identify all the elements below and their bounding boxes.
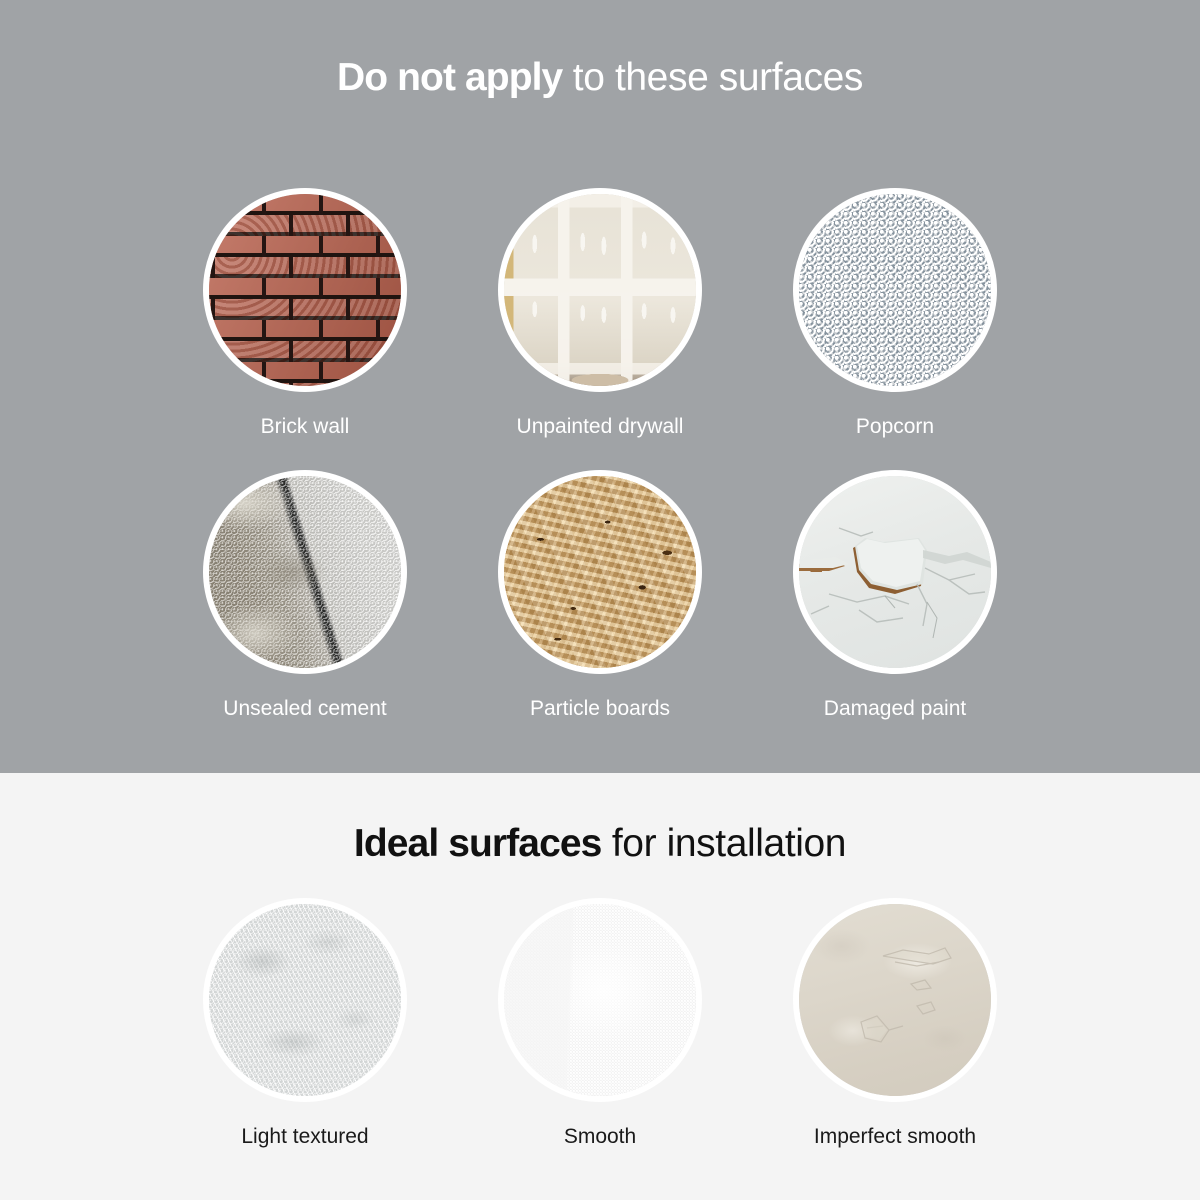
popcorn-ceiling-texture	[799, 194, 991, 386]
brick-wall-texture	[209, 194, 401, 386]
trowel-mark-detail-icon	[799, 904, 991, 1096]
damaged-paint-texture	[799, 476, 991, 668]
do-not-apply-row-2: Unsealed cement Particle boards	[0, 476, 1200, 722]
unsealed-cement-texture	[209, 476, 401, 668]
surface-tile-unpainted-drywall[interactable]: Unpainted drywall	[504, 194, 696, 440]
tile-label-imperfect-smooth: Imperfect smooth	[814, 1124, 976, 1150]
unpainted-drywall-texture	[504, 194, 696, 386]
heading-light-text: to these surfaces	[562, 56, 863, 99]
surface-tile-unsealed-cement[interactable]: Unsealed cement	[209, 476, 401, 722]
surface-tile-popcorn[interactable]: Popcorn	[799, 194, 991, 440]
surface-compatibility-infographic: Do not apply to these surfaces Brick wal…	[0, 0, 1200, 1200]
tile-label-unsealed-cement: Unsealed cement	[223, 696, 386, 722]
paint-peel-detail-icon	[799, 476, 991, 668]
swatch-damaged-paint	[799, 476, 991, 668]
particle-board-texture	[504, 476, 696, 668]
swatch-light-textured	[209, 904, 401, 1096]
tile-label-smooth: Smooth	[564, 1124, 636, 1150]
heading-strong-text: Do not apply	[337, 56, 562, 99]
tile-label-popcorn: Popcorn	[856, 414, 934, 440]
light-textured-surface-texture	[209, 904, 401, 1096]
surface-tile-imperfect-smooth[interactable]: Imperfect smooth	[799, 904, 991, 1150]
surface-tile-smooth[interactable]: Smooth	[504, 904, 696, 1150]
surface-tile-brick-wall[interactable]: Brick wall	[209, 194, 401, 440]
do-not-apply-row-1: Brick wall Unpainted drywall Popcorn	[0, 194, 1200, 440]
tile-label-unpainted-drywall: Unpainted drywall	[517, 414, 684, 440]
tile-label-brick-wall: Brick wall	[261, 414, 350, 440]
swatch-brick-wall	[209, 194, 401, 386]
swatch-popcorn	[799, 194, 991, 386]
ideal-heading-light-text: for installation	[601, 822, 846, 865]
smooth-surface-texture	[504, 904, 696, 1096]
ideal-heading-strong-text: Ideal surfaces	[354, 822, 602, 865]
surface-tile-light-textured[interactable]: Light textured	[209, 904, 401, 1150]
tile-label-light-textured: Light textured	[241, 1124, 368, 1150]
swatch-imperfect-smooth	[799, 904, 991, 1096]
tile-label-damaged-paint: Damaged paint	[824, 696, 966, 722]
swatch-unpainted-drywall	[504, 194, 696, 386]
ideal-surfaces-row: Light textured Smooth	[0, 904, 1200, 1150]
swatch-unsealed-cement	[209, 476, 401, 668]
surface-tile-damaged-paint[interactable]: Damaged paint	[799, 476, 991, 722]
imperfect-smooth-surface-texture	[799, 904, 991, 1096]
swatch-particle-boards	[504, 476, 696, 668]
swatch-smooth	[504, 904, 696, 1096]
do-not-apply-heading: Do not apply to these surfaces	[0, 56, 1200, 100]
ideal-surfaces-heading: Ideal surfaces for installation	[0, 822, 1200, 866]
tile-label-particle-boards: Particle boards	[530, 696, 670, 722]
surface-tile-particle-boards[interactable]: Particle boards	[504, 476, 696, 722]
